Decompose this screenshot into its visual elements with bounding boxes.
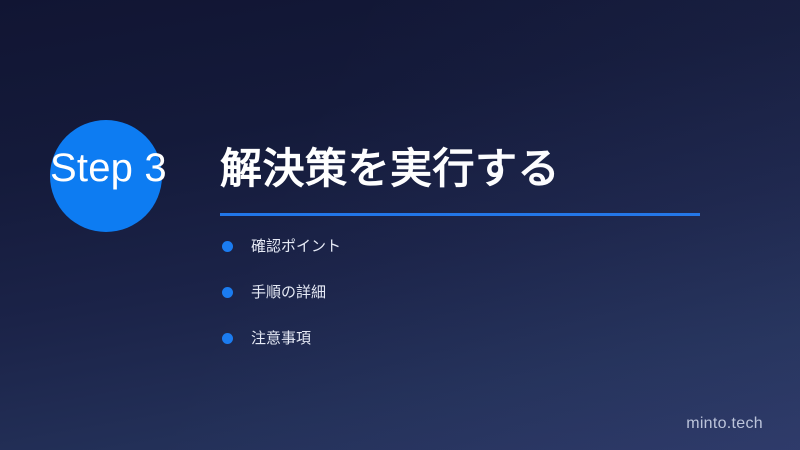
bullet-dot-icon	[222, 333, 233, 344]
slide-title: 解決策を実行する	[220, 143, 720, 195]
list-item-label: 確認ポイント	[251, 238, 341, 255]
step-label: Step 3	[50, 144, 215, 192]
bullet-list: 確認ポイント 手順の詳細 注意事項	[222, 238, 682, 347]
bullet-dot-icon	[222, 287, 233, 298]
list-item: 手順の詳細	[222, 284, 682, 301]
bullet-dot-icon	[222, 241, 233, 252]
list-item-label: 手順の詳細	[251, 284, 326, 301]
presentation-slide: Step 3 解決策を実行する 確認ポイント 手順の詳細 注意事項 minto.…	[0, 0, 800, 450]
list-item: 注意事項	[222, 330, 682, 347]
title-divider	[220, 213, 700, 216]
step-badge: Step 3	[50, 120, 210, 232]
title-block: 解決策を実行する	[220, 143, 720, 216]
list-item-label: 注意事項	[251, 330, 311, 347]
footer-brand: minto.tech	[686, 414, 763, 434]
list-item: 確認ポイント	[222, 238, 682, 255]
